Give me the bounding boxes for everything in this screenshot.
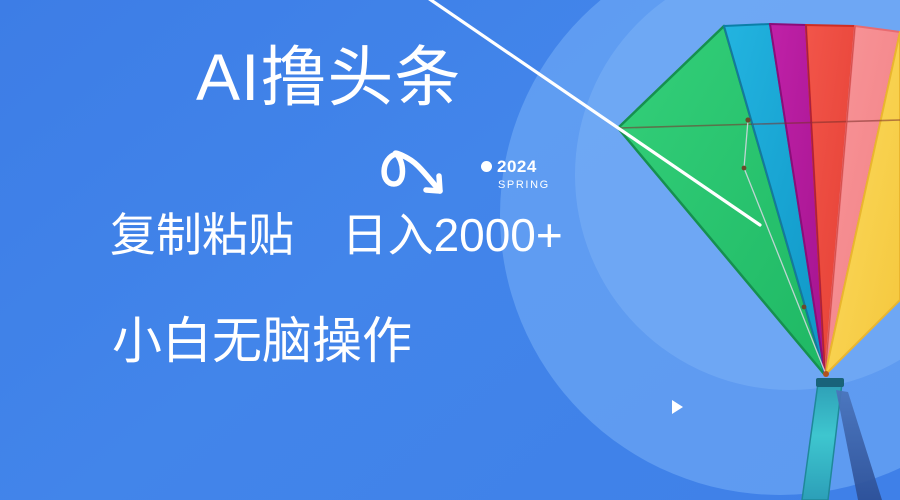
kite-tail-blue bbox=[836, 390, 882, 500]
season-badge: 2024 SPRING bbox=[481, 158, 550, 191]
bullet-dot-icon bbox=[481, 161, 492, 172]
subtitle-copy-paste: 复制粘贴 bbox=[110, 209, 294, 261]
kite-nose-fitting bbox=[823, 371, 829, 377]
play-triangle-icon bbox=[672, 400, 683, 414]
kite-tail-teal bbox=[802, 383, 842, 500]
kite-tail-clip bbox=[816, 378, 844, 387]
kite-tails bbox=[802, 371, 882, 500]
subtitle-line-one: 复制粘贴 日入2000+ bbox=[110, 212, 563, 258]
season-badge-row: 2024 bbox=[481, 158, 550, 175]
subtitle-income: 日入2000+ bbox=[342, 209, 563, 261]
poster-canvas: AI撸头条 复制粘贴 日入2000+ 小白无脑操作 2024 SPRING bbox=[0, 0, 900, 500]
page-title: AI撸头条 bbox=[196, 44, 461, 110]
kite-panels bbox=[618, 24, 900, 375]
badge-year: 2024 bbox=[497, 158, 537, 175]
subtitle-line-two: 小白无脑操作 bbox=[112, 316, 412, 366]
badge-season: SPRING bbox=[498, 180, 550, 191]
curved-arrow-icon bbox=[374, 142, 482, 210]
